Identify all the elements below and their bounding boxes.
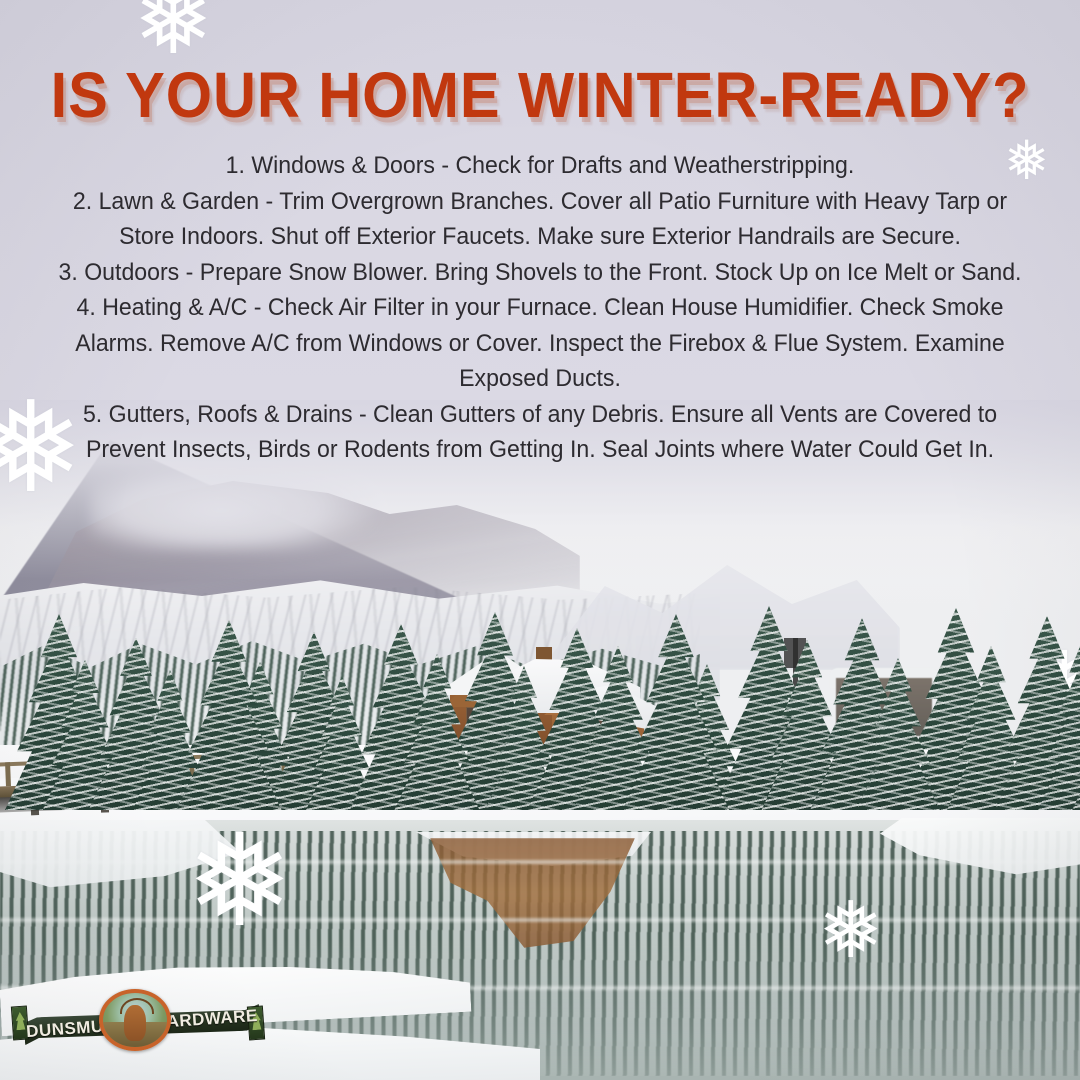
checklist-item: 1. Windows & Doors - Check for Drafts an… xyxy=(55,148,1025,184)
checklist-item: 5. Gutters, Roofs & Drains - Clean Gutte… xyxy=(55,397,1025,468)
bridge-post xyxy=(5,762,11,786)
checklist-item: 2. Lawn & Garden - Trim Overgrown Branch… xyxy=(55,184,1025,255)
checklist-item: 3. Outdoors - Prepare Snow Blower. Bring… xyxy=(55,255,1025,291)
checklist-item: 4. Heating & A/C - Check Air Filter in y… xyxy=(55,290,1025,397)
emblem-deer-antlers xyxy=(120,998,154,1014)
deer-emblem-icon xyxy=(99,989,171,1051)
snowflake-bottom-right-icon: ❅ xyxy=(818,892,883,970)
winter-checklist: 1. Windows & Doors - Check for Drafts an… xyxy=(55,148,1025,468)
snowflake-bottom-left-icon: ❅ xyxy=(186,818,293,946)
page-title: IS YOUR HOME WINTER-READY? xyxy=(38,58,1042,132)
winter-ready-poster: ❅❅❅❅❅❅ IS YOUR HOME WINTER-READY? 1. Win… xyxy=(0,0,1080,1080)
lake-ripple xyxy=(0,918,1080,922)
mountain-cloud xyxy=(90,460,380,550)
